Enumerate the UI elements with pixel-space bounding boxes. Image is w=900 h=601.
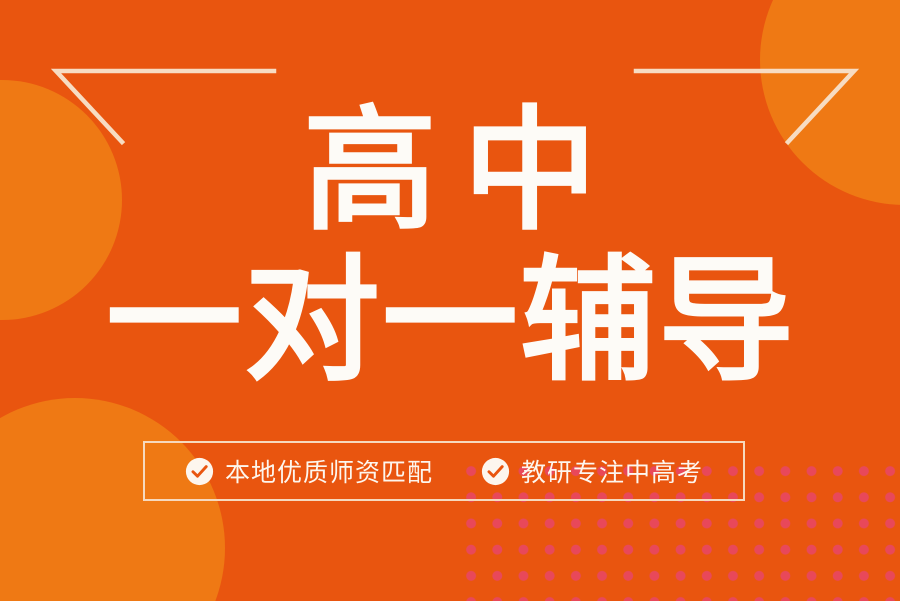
feature-bar: 本地优质师资匹配 教研专注中高考 <box>143 441 745 501</box>
feature-item-1: 本地优质师资匹配 <box>185 453 433 489</box>
feature-label-2: 教研专注中高考 <box>521 453 703 489</box>
poster-canvas: 高中 一对一辅导 本地优质师资匹配 教研专注中高考 <box>0 0 900 601</box>
check-circle-icon <box>481 457 510 486</box>
headline-line-1: 高中 <box>0 104 900 238</box>
feature-label-1: 本地优质师资匹配 <box>225 453 433 489</box>
headline-line-2: 一对一辅导 <box>0 254 900 390</box>
headline-block: 高中 一对一辅导 <box>0 104 900 390</box>
check-circle-icon <box>185 457 214 486</box>
feature-item-2: 教研专注中高考 <box>481 453 703 489</box>
